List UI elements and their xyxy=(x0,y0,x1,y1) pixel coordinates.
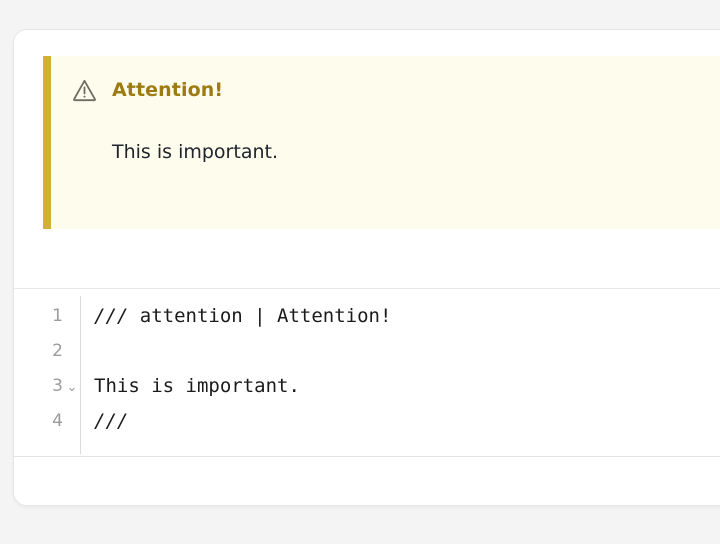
line-gutter: 4⌄ xyxy=(14,404,81,439)
line-number: 3 xyxy=(41,369,63,404)
code-fence-token: /// xyxy=(94,305,128,327)
attention-admonition: Attention! This is important. xyxy=(43,56,720,229)
line-gutter: 2⌄ xyxy=(14,334,81,369)
code-line-text: /// xyxy=(81,404,720,439)
code-line[interactable]: 1⌄/// attention | Attention! xyxy=(14,299,720,334)
chevron-down-icon[interactable]: ⌄ xyxy=(63,370,81,405)
preview-card: Attention! This is important. 1⌄/// atte… xyxy=(13,29,720,506)
warning-triangle-icon xyxy=(71,77,98,104)
line-number: 2 xyxy=(41,334,63,369)
rendered-preview-pane: Attention! This is important. xyxy=(14,30,720,289)
admonition-title-row: Attention! xyxy=(71,77,223,104)
admonition-title: Attention! xyxy=(112,81,223,100)
gutter-divider xyxy=(80,296,81,454)
code-line[interactable]: 4⌄/// xyxy=(14,404,720,439)
line-gutter: 1⌄ xyxy=(14,299,81,334)
line-number: 4 xyxy=(41,404,63,439)
source-code-pane[interactable]: 1⌄/// attention | Attention!2⌄3⌄This is … xyxy=(14,289,720,457)
line-number: 1 xyxy=(41,299,63,334)
code-line[interactable]: 3⌄This is important. xyxy=(14,369,720,404)
code-line-list: 1⌄/// attention | Attention!2⌄3⌄This is … xyxy=(14,299,720,439)
code-line-text: This is important. xyxy=(81,369,720,404)
code-line[interactable]: 2⌄ xyxy=(14,334,720,369)
line-gutter: 3⌄ xyxy=(14,369,81,404)
code-fence-token: /// xyxy=(94,410,128,432)
code-line-text: /// attention | Attention! xyxy=(81,299,720,334)
card-footer xyxy=(14,457,720,505)
admonition-body-text: This is important. xyxy=(112,140,278,165)
